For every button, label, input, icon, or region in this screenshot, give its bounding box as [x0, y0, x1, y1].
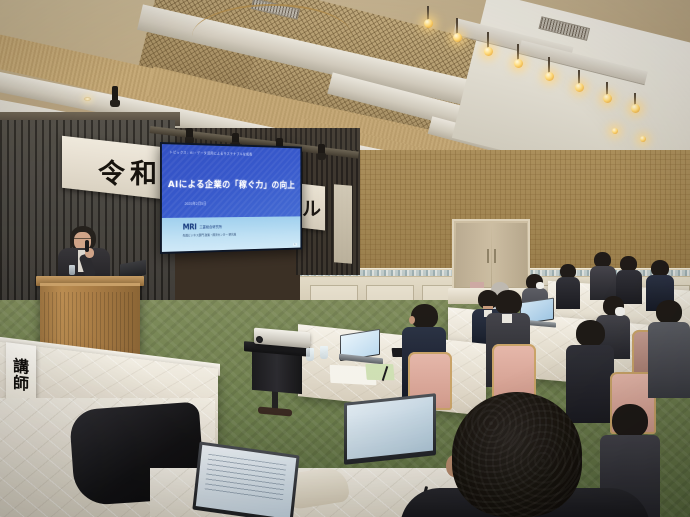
attendee-body: [590, 266, 616, 300]
podium-water-glass: [69, 265, 75, 275]
pendant-bulb: [575, 83, 584, 92]
attendee-back-1: [590, 252, 616, 298]
slide-title: AIによる企業の「稼ぐ力」の向上: [162, 176, 300, 191]
attendee-collar: [502, 314, 512, 323]
attendee-ear: [409, 316, 415, 324]
downlight: [84, 97, 91, 101]
pendant-bulb: [603, 94, 612, 103]
hanging-scroll: [334, 184, 352, 264]
attendee-front-4: [648, 300, 690, 396]
attendee-body: [648, 322, 690, 398]
projection-screen: トピックス：AI・データ活用によるサステナブルな成長 AIによる企業の「稼ぐ力」…: [160, 142, 302, 254]
attendee-head: [612, 404, 648, 438]
pendant-bulb-far: [612, 128, 618, 134]
pendant-stem: [427, 6, 429, 20]
placard-char-2: 師: [13, 375, 29, 393]
foreground-laptop-right[interactable]: [344, 393, 436, 465]
attendee-back-4: [556, 264, 580, 308]
projector-lens: [256, 336, 263, 344]
seminar-room-photo: 令和7 ル トピックス：AI・データ活用によるサステナブルな成長 AIによる企業…: [0, 0, 690, 517]
slide-org-line: 先端ビジネス部門 政策・経済センター 研究員: [183, 232, 237, 237]
pendant-stem: [456, 18, 458, 34]
slide-page-number: 1: [293, 243, 297, 246]
water-glass: [320, 346, 328, 359]
door-handle[interactable]: [487, 249, 489, 263]
mri-logo: MRI 三菱総合研究所: [183, 223, 222, 231]
attendee-head: [656, 300, 682, 324]
pendant-stem: [548, 57, 550, 73]
pendant-bulb-far: [640, 136, 646, 142]
spotlight-head: [317, 153, 326, 160]
presentation-slide: トピックス：AI・データ活用によるサステナブルな成長 AIによる企業の「稼ぐ力」…: [162, 144, 300, 252]
pendant-bulb: [631, 104, 640, 113]
pendant-bulb: [424, 19, 433, 28]
foreground-laptop-left[interactable]: [192, 441, 299, 517]
attendee-head: [495, 290, 522, 315]
pendant-bulb: [514, 59, 523, 68]
back-door-left[interactable]: [456, 223, 491, 287]
door-handle[interactable]: [494, 249, 496, 263]
pendant-bulb: [545, 72, 554, 81]
microphone: [85, 240, 89, 252]
mri-logo-name: 三菱総合研究所: [199, 226, 222, 230]
slide-date: 2025年2月5日: [185, 202, 207, 207]
pendant-bulb: [453, 33, 462, 42]
slide-footer: MRI 三菱総合研究所 先端ビジネス部門 政策・経済センター 研究員 1: [162, 216, 300, 252]
document-page-green: [365, 364, 394, 381]
water-glass: [306, 348, 314, 361]
laptop-screen: [347, 396, 433, 459]
event-banner-right-text: ル: [302, 193, 321, 220]
face-mask: [615, 307, 625, 316]
event-banner-right: ル: [299, 184, 325, 231]
attendee-head: [411, 304, 438, 329]
pendant-bulb: [484, 47, 493, 56]
foreground-person-head: [452, 392, 582, 517]
laptop-screen: [196, 445, 297, 517]
laptop-screen-text: [204, 454, 286, 502]
face-mask: [536, 282, 544, 289]
spotlight-head: [110, 100, 120, 107]
projector-cart: [252, 350, 302, 394]
attendee-body: [556, 277, 580, 309]
attendee-head: [576, 320, 605, 347]
slide-subtitle: トピックス：AI・データ活用によるサステナブルな成長: [170, 149, 296, 157]
pendant-stem: [517, 44, 519, 60]
pendant-stem: [578, 70, 580, 84]
pendant-stem: [487, 32, 489, 48]
mri-logo-mark: MRI: [183, 223, 197, 231]
